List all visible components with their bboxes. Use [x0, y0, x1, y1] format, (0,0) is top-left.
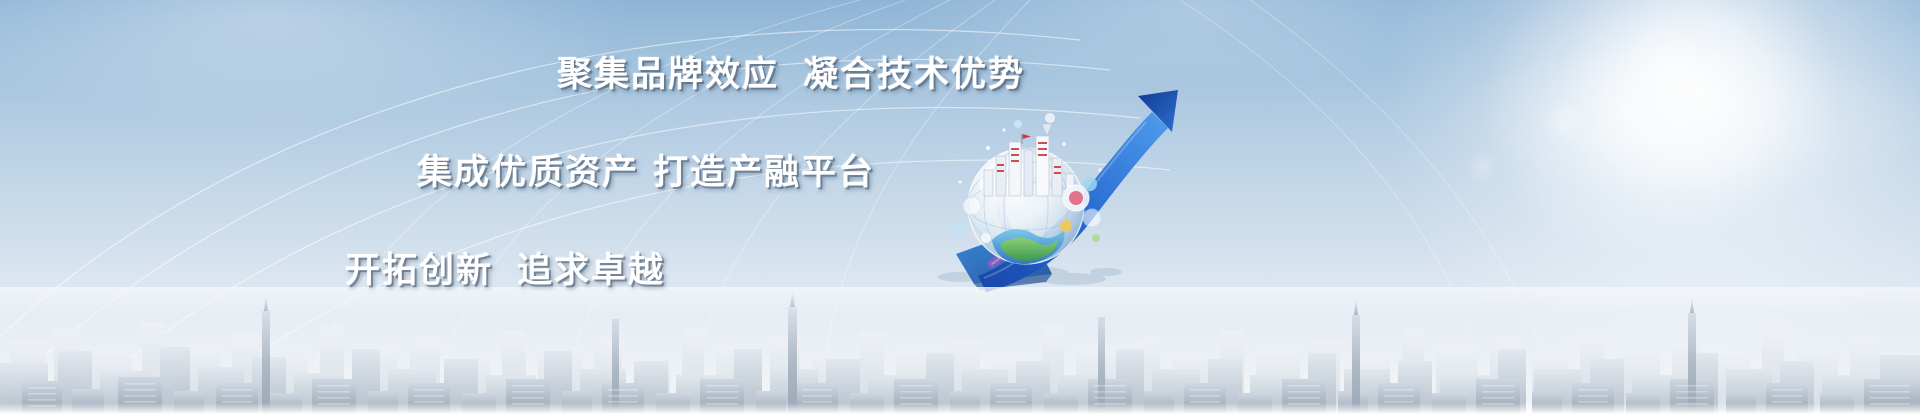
headline-1-part-a: 聚集品牌效应 — [557, 55, 779, 94]
headline-group: 聚集品牌效应凝合技术优势 集成优质资产打造产融平台 开拓创新追求卓越 — [0, 46, 1035, 293]
lens-flare-icon — [1538, 96, 1590, 148]
headline-3-part-a: 开拓创新 — [345, 251, 493, 290]
headline-line-1: 聚集品牌效应凝合技术优势 — [0, 46, 1035, 97]
lens-flare-icon — [1466, 150, 1500, 184]
headline-line-3: 开拓创新追求卓越 — [0, 242, 1035, 293]
city-skyline-silhouette — [0, 289, 1920, 419]
ground-fade — [0, 403, 1920, 419]
hero-banner: 聚集品牌效应凝合技术优势 集成优质资产打造产融平台 开拓创新追求卓越 — [0, 0, 1920, 419]
lens-flare-icon — [1624, 26, 1710, 112]
sun-glow-secondary — [1480, 0, 1780, 260]
headline-3-part-b: 追求卓越 — [517, 251, 665, 290]
headline-1-part-b: 凝合技术优势 — [803, 55, 1025, 94]
headline-line-2: 集成优质资产打造产融平台 — [0, 144, 1035, 195]
headline-2-part-a: 集成优质资产 — [417, 153, 639, 192]
headline-2-part-b: 打造产融平台 — [653, 153, 875, 192]
